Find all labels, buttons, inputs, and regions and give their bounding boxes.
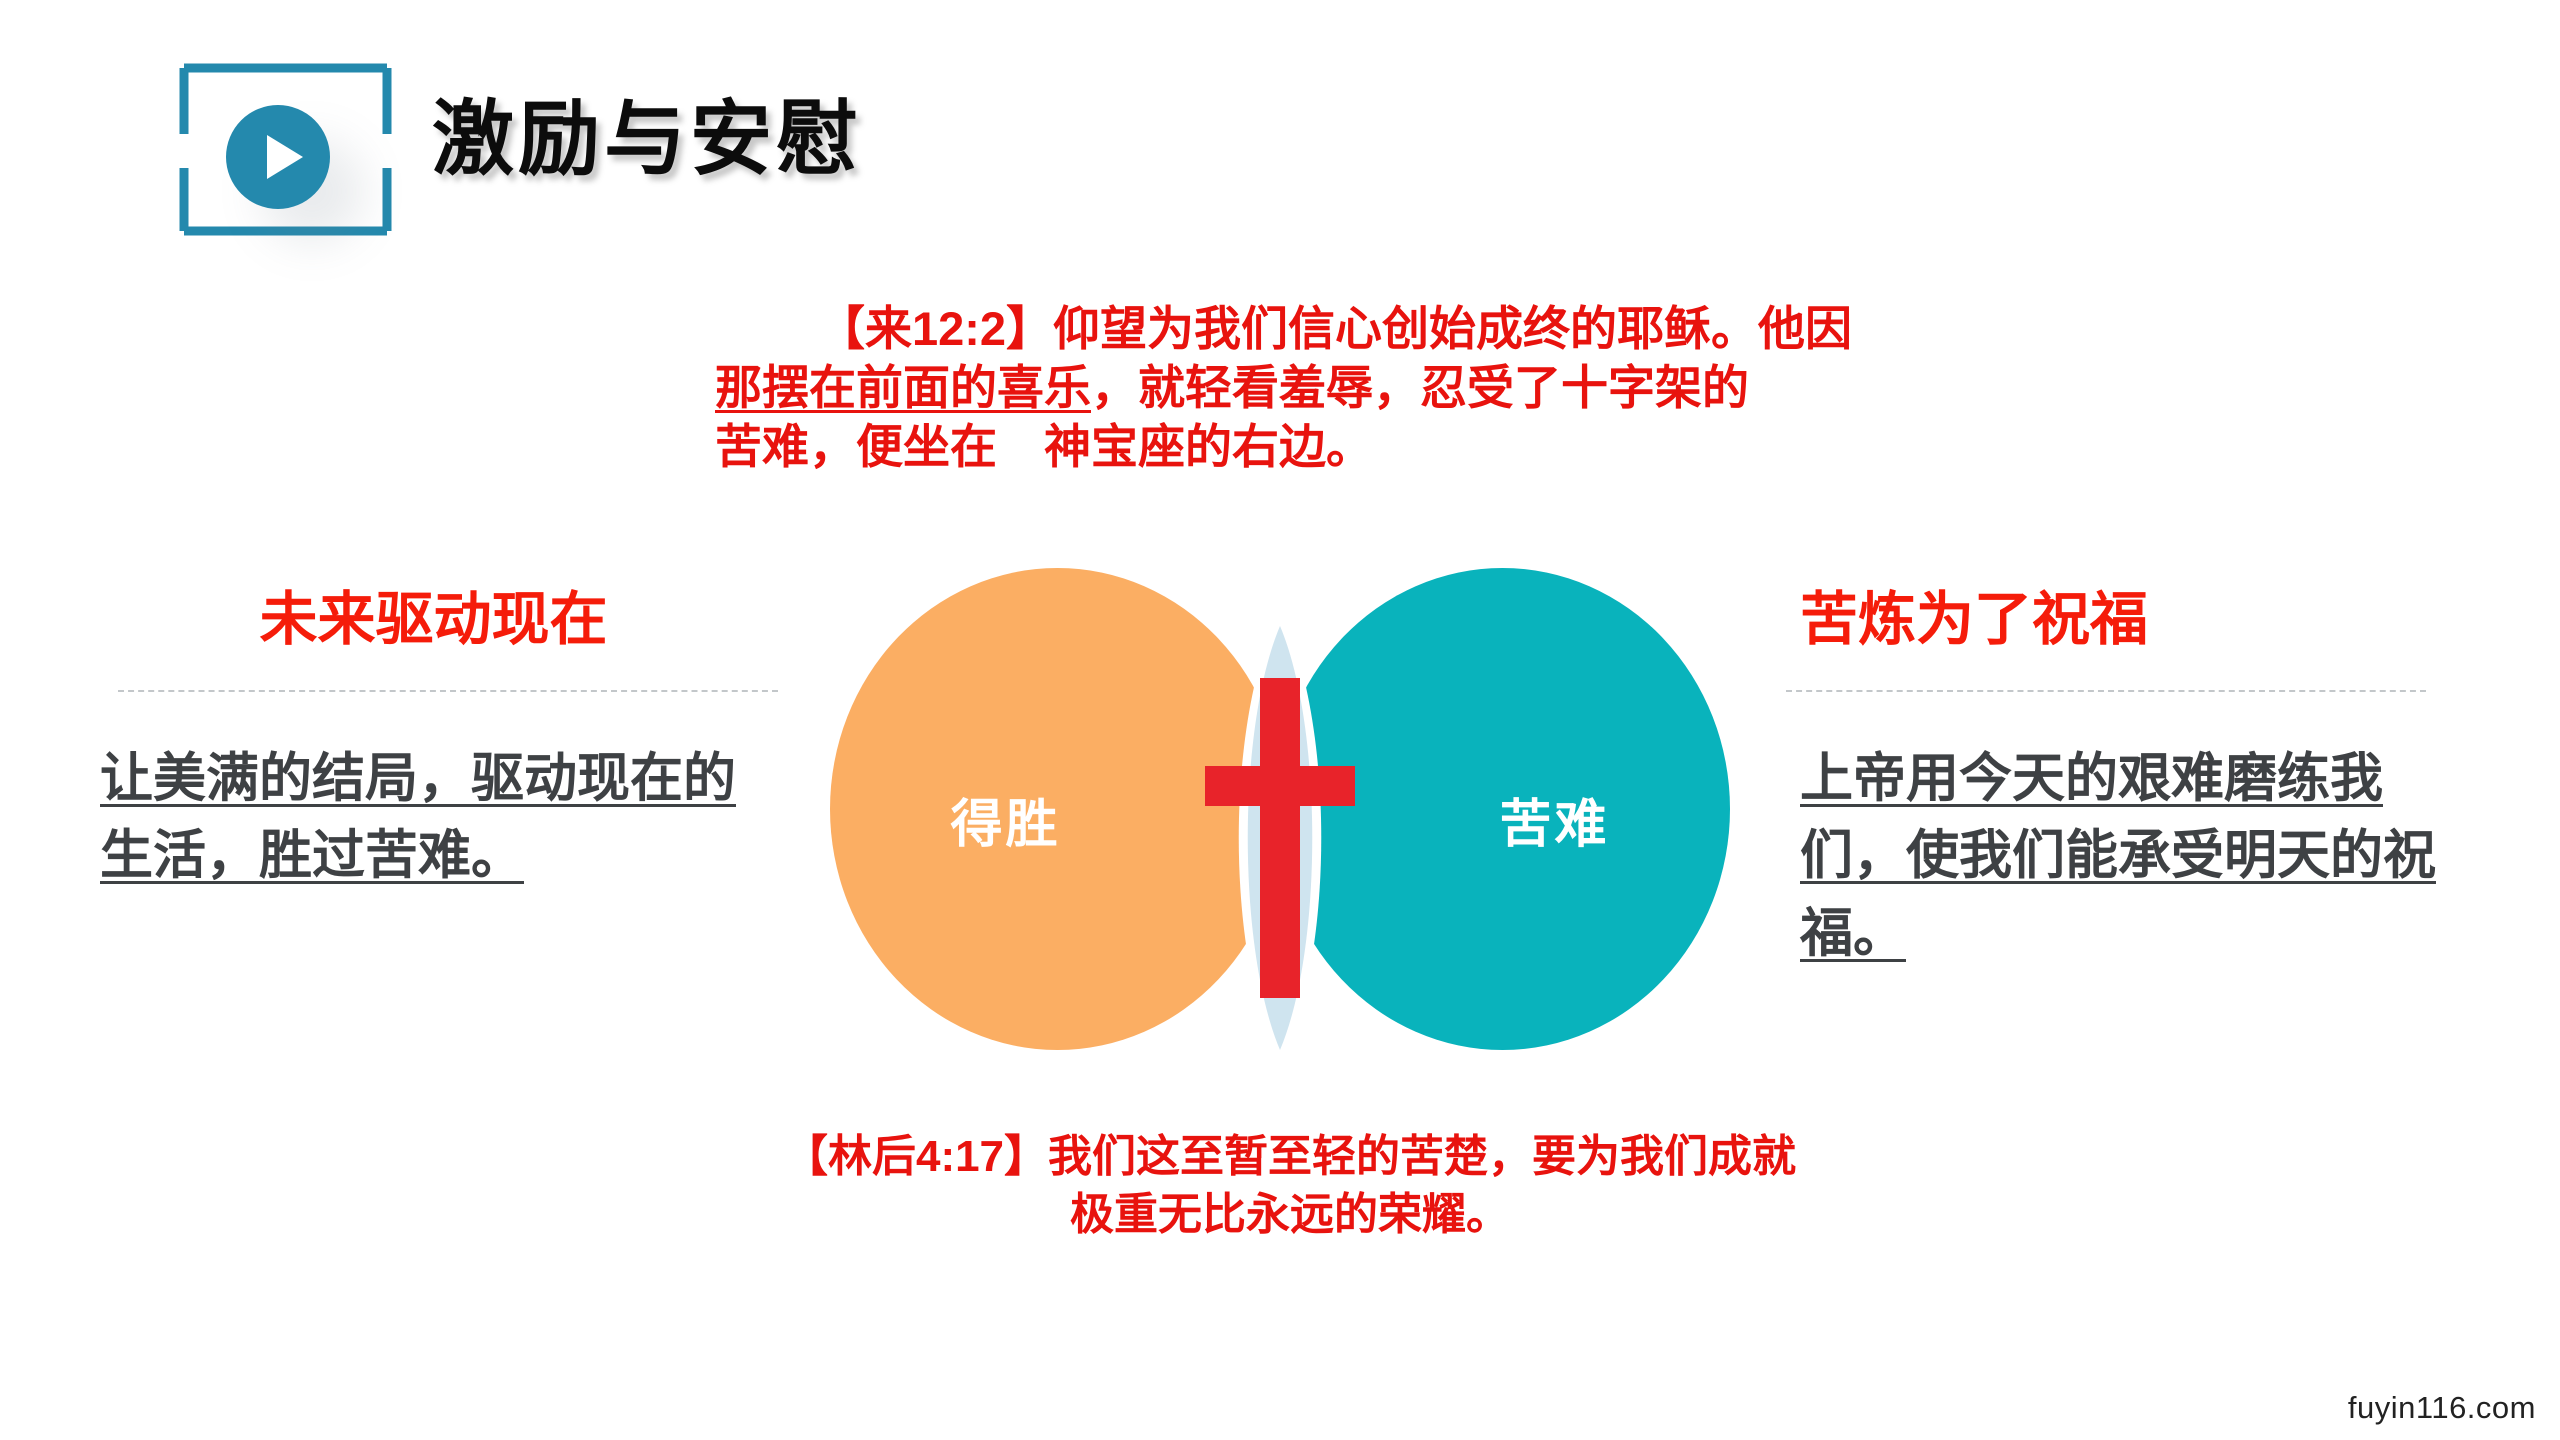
play-triangle-icon [267, 135, 303, 179]
left-column-body: 让美满的结局，驱动现在的生活，胜过苦难。 [100, 740, 740, 895]
scripture-top-line-2: 那摆在前面的喜乐，就轻看羞辱，忍受了十字架的 [715, 359, 1955, 418]
scripture-top-line-2-rest: ，就轻看羞辱，忍受了十字架的 [1091, 361, 1749, 414]
right-column-heading: 苦炼为了祝福 [1800, 588, 2480, 652]
watermark: fuyin116.com [2348, 1390, 2536, 1426]
left-column-divider [118, 690, 778, 692]
left-column-heading: 未来驱动现在 [100, 588, 785, 652]
venn-diagram: 得胜 苦难 [830, 568, 1730, 1108]
venn-intersection [1175, 608, 1385, 1068]
right-column: 苦炼为了祝福 上帝用今天的艰难磨练我们，使我们能承受明天的祝福。 [1800, 588, 2480, 972]
scripture-bottom: 【林后4:17】我们这至暂至轻的苦楚，要为我们成就 极重无比永远的荣耀。 [640, 1128, 1940, 1244]
scripture-top: 【来12:2】仰望为我们信心创始成终的耶稣。他因 那摆在前面的喜乐，就轻看羞辱，… [715, 300, 1955, 476]
page-title: 激励与安慰 [432, 72, 862, 191]
logo-mark [178, 62, 393, 237]
right-column-body: 上帝用今天的艰难磨练我们，使我们能承受明天的祝福。 [1800, 740, 2440, 972]
scripture-bottom-line-1: 【林后4:17】我们这至暂至轻的苦楚，要为我们成就 [640, 1128, 1940, 1186]
cross-icon [1205, 678, 1355, 998]
cross-vertical-bar [1260, 678, 1300, 998]
cross-horizontal-bar [1205, 766, 1355, 806]
play-button-icon [226, 105, 330, 209]
venn-label-victory: 得胜 [950, 782, 1060, 857]
venn-label-suffering: 苦难 [1499, 782, 1609, 857]
slide-header: 激励与安慰 [0, 0, 2560, 260]
scripture-top-line-3: 苦难，便坐在 神宝座的右边。 [715, 418, 1955, 477]
left-column: 未来驱动现在 让美满的结局，驱动现在的生活，胜过苦难。 [100, 588, 785, 895]
scripture-top-line-1: 【来12:2】仰望为我们信心创始成终的耶稣。他因 [715, 300, 1955, 359]
scripture-bottom-line-2: 极重无比永远的荣耀。 [640, 1186, 1940, 1244]
right-column-divider [1786, 690, 2426, 692]
scripture-top-underlined-phrase: 那摆在前面的喜乐 [715, 361, 1091, 414]
